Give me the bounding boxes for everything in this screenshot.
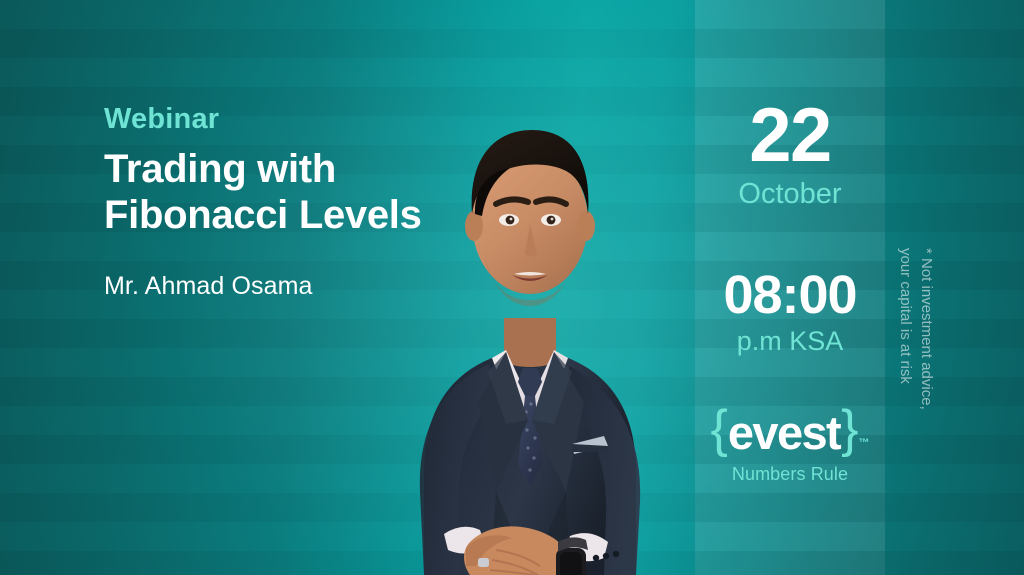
date-month: October xyxy=(695,179,885,211)
title-line-2: Fibonacci Levels xyxy=(104,192,524,238)
speaker-name: Mr. Ahmad Osama xyxy=(104,272,524,301)
brand-tagline: Numbers Rule xyxy=(695,465,885,485)
logo-brace-open-icon: { xyxy=(711,406,727,454)
time-block: 08:00 p.m KSA xyxy=(695,268,885,357)
promo-canvas: Webinar Trading with Fibonacci Levels Mr… xyxy=(0,0,1024,575)
time-zone: p.m KSA xyxy=(695,327,885,357)
page-title: Trading with Fibonacci Levels xyxy=(104,146,524,239)
eyebrow-label: Webinar xyxy=(104,104,524,136)
trademark-icon: ™ xyxy=(858,438,869,449)
headline-block: Webinar Trading with Fibonacci Levels Mr… xyxy=(104,104,524,301)
disclaimer-line-1: * Not investment advice, xyxy=(916,248,937,548)
title-line-1: Trading with xyxy=(104,147,336,191)
disclaimer-line-2: your capital is at risk xyxy=(894,248,915,548)
logo-wordmark: evest xyxy=(727,411,841,454)
risk-disclaimer: * Not investment advice, your capital is… xyxy=(893,248,937,548)
time-value: 08:00 xyxy=(695,268,885,322)
brand-logo: { evest } ™ Numbers Rule xyxy=(695,406,885,485)
logo-brace-close-icon: } xyxy=(841,406,857,454)
date-day: 22 xyxy=(695,100,885,173)
date-block: 22 October xyxy=(695,100,885,211)
